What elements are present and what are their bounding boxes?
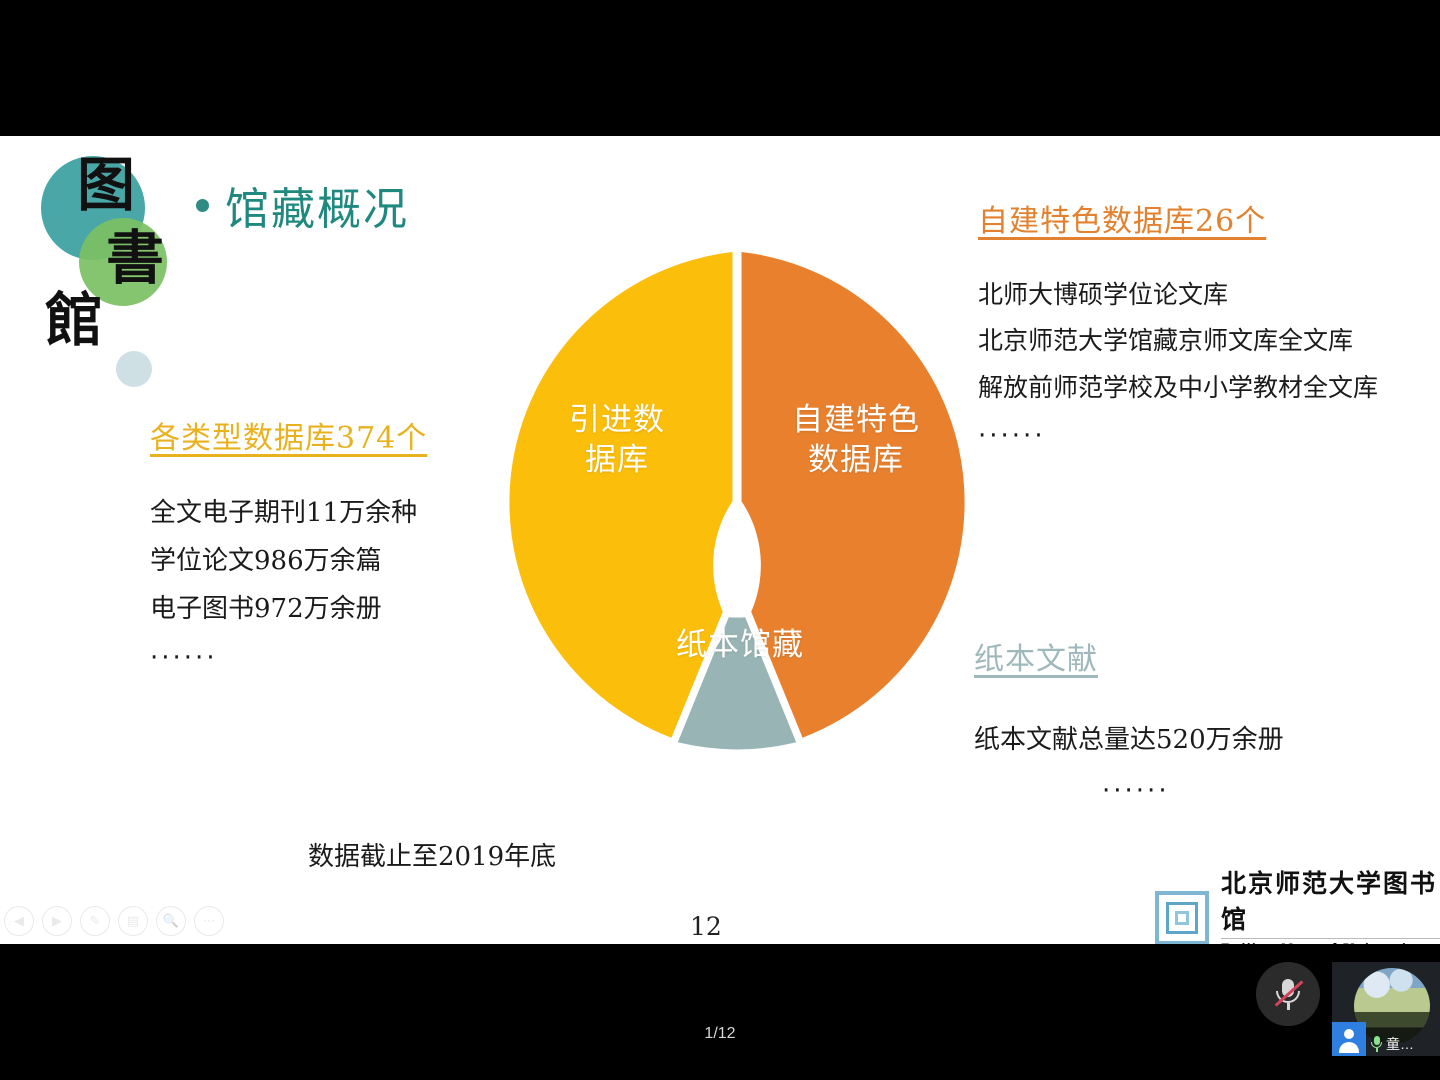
callout-title: 各类型数据库374个 xyxy=(150,413,427,457)
pie-slice-label-yinjin: 引进数 据库 xyxy=(517,400,717,481)
callout-title: 纸本文献 xyxy=(974,634,1284,678)
participant-video-tile[interactable]: 童… xyxy=(1332,962,1440,1056)
callout-line: 电子图书972万余册 xyxy=(150,585,427,633)
person-icon xyxy=(1332,1022,1366,1056)
callout-line: 解放前师范学校及中小学教材全文库 xyxy=(978,365,1378,411)
callout-line: 北京师范大学馆藏京师文库全文库 xyxy=(978,318,1378,364)
pie-slice-label-zijian: 自建特色 数据库 xyxy=(751,400,961,481)
callout-line: 北师大博硕学位论文库 xyxy=(978,272,1378,318)
callout-ellipsis: ······ xyxy=(150,643,427,673)
slide-heading: 馆藏概况 xyxy=(196,173,409,237)
library-logo: 北京师范大学图书馆 Beijing Normal University Libr… xyxy=(1155,864,1440,944)
callout-title: 自建特色数据库26个 xyxy=(978,196,1378,240)
library-logo-text: 北京师范大学图书馆 Beijing Normal University Libr… xyxy=(1221,864,1440,944)
data-cutoff-note: 数据截止至2019年底 xyxy=(308,836,556,873)
all-slides-icon[interactable]: ▤ xyxy=(118,906,148,936)
pie-slice-label-line: 纸本馆藏 xyxy=(605,625,875,665)
library-seal-inner xyxy=(1166,902,1198,934)
pie-slice-label-line: 引进数 xyxy=(517,400,717,440)
callout-line: 全文电子期刊11万余种 xyxy=(150,489,427,537)
page-title: 馆藏概况 xyxy=(225,173,409,237)
library-name-cn: 北京师范大学图书馆 xyxy=(1221,864,1440,939)
pie-chart: 引进数 据库 自建特色 数据库 纸本馆藏 xyxy=(481,248,993,760)
more-options-icon[interactable]: ⋯ xyxy=(194,906,224,936)
bullet-icon xyxy=(196,199,209,212)
pie-slice-label-line: 据库 xyxy=(517,440,717,480)
presentation-slide[interactable]: 图 書 館 馆藏概况 引进数 据库 自建特色 数据库 xyxy=(0,136,1440,944)
participant-name: 童… xyxy=(1386,1034,1414,1054)
mic-stem xyxy=(1376,1048,1378,1052)
mic-on-icon xyxy=(1370,1036,1383,1052)
next-slide-button[interactable]: ▶ xyxy=(42,906,72,936)
decorative-circle-pale xyxy=(116,351,152,387)
library-seal-icon xyxy=(1155,891,1209,944)
zoom-tool-icon[interactable]: 🔍 xyxy=(156,906,186,936)
callout-line: 学位论文986万余篇 xyxy=(150,537,427,585)
callout-lines: 全文电子期刊11万余种 学位论文986万余篇 电子图书972万余册 xyxy=(150,489,427,633)
presentation-toolbar[interactable]: ◀ ▶ ✎ ▤ 🔍 ⋯ xyxy=(4,906,224,936)
logo-mark-char-guan: 館 xyxy=(45,291,103,349)
previous-slide-button[interactable]: ◀ xyxy=(4,906,34,936)
callout-ellipsis: ······ xyxy=(978,421,1378,451)
pen-tool-icon[interactable]: ✎ xyxy=(80,906,110,936)
letterbox-bottom xyxy=(0,944,1440,1080)
participant-name-row: 童… xyxy=(1370,1034,1414,1054)
pie-slice-label-line: 数据库 xyxy=(751,440,961,480)
screen-root: 图 書 館 馆藏概况 引进数 据库 自建特色 数据库 xyxy=(0,0,1440,1080)
callout-print-collection: 纸本文献 纸本文献总量达520万余册 ······ xyxy=(974,634,1284,806)
slide-page-indicator: 1/12 xyxy=(0,1025,1440,1043)
mic-off-icon xyxy=(1273,977,1303,1011)
slide-page-number: 12 xyxy=(690,912,722,941)
callout-lines: 北师大博硕学位论文库 北京师范大学馆藏京师文库全文库 解放前师范学校及中小学教材… xyxy=(978,272,1378,411)
callout-ellipsis: ······ xyxy=(1102,776,1284,806)
callout-self-built-databases: 自建特色数据库26个 北师大博硕学位论文库 北京师范大学馆藏京师文库全文库 解放… xyxy=(978,196,1378,451)
pie-slice-label-zhiben: 纸本馆藏 xyxy=(605,625,875,665)
mute-toggle-button[interactable] xyxy=(1256,962,1320,1026)
logo-mark-char-tu: 图 xyxy=(77,156,135,214)
logo-mark-char-shu: 書 xyxy=(106,229,164,287)
person-body xyxy=(1339,1042,1359,1053)
callout-databases-left: 各类型数据库374个 全文电子期刊11万余种 学位论文986万余篇 电子图书97… xyxy=(150,413,427,673)
callout-line: 纸本文献总量达520万余册 xyxy=(974,716,1284,764)
mic-stem xyxy=(1287,1003,1290,1010)
letterbox-top xyxy=(0,0,1440,136)
person-head xyxy=(1344,1029,1354,1039)
pie-chart-svg xyxy=(481,248,993,760)
pie-slice-label-line: 自建特色 xyxy=(751,400,961,440)
callout-lines: 纸本文献总量达520万余册 xyxy=(974,716,1284,764)
